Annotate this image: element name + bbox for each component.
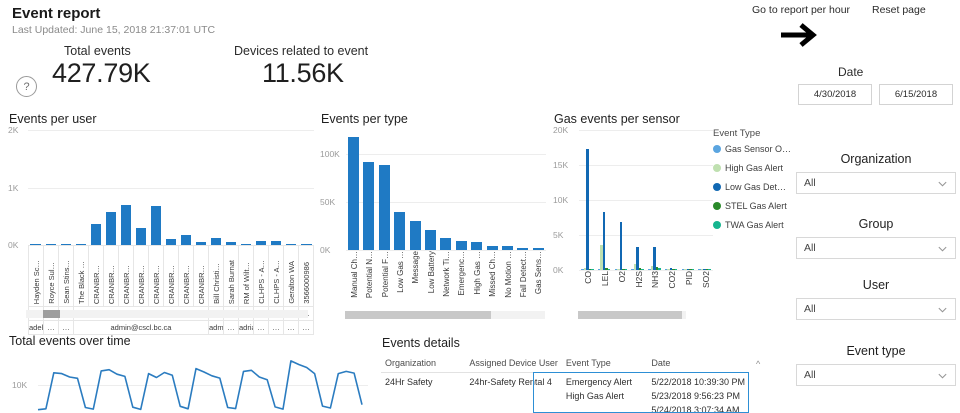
cell-date: 5/23/2018 9:56:23 PM: [647, 389, 749, 403]
scrollbar-events-per-user[interactable]: [26, 310, 308, 318]
legend-item[interactable]: Low Gas Det…: [713, 182, 786, 192]
slicer-user[interactable]: All: [796, 298, 956, 320]
last-updated-text: Last Updated: June 15, 2018 21:37:01 UTC: [12, 24, 215, 36]
column-header-assigned-device-user[interactable]: Assigned Device User: [465, 355, 562, 373]
slicer-value-user: All: [804, 303, 937, 315]
chart-title-gas-events: Gas events per sensor: [554, 112, 793, 126]
x-axis-group-account[interactable]: …: [254, 321, 269, 335]
events-per-type-axis: Manual Ch…Potential N…Potential F…Low Ga…: [320, 250, 546, 310]
x-axis-category[interactable]: NH3: [650, 271, 660, 288]
table-row[interactable]: 24Hr Safety24hr-Safety Rental 4Emergency…: [381, 373, 749, 390]
slicer-value-event-type: All: [804, 369, 937, 381]
kpi-label-devices: Devices related to event: [234, 44, 368, 58]
x-axis-category[interactable]: No Motion …: [504, 251, 513, 298]
page-title: Event report: [12, 5, 100, 22]
x-axis-category[interactable]: PID: [684, 271, 694, 285]
gridline: [579, 130, 713, 131]
chevron-down-icon: [937, 304, 948, 315]
bar[interactable]: [363, 162, 374, 250]
x-axis-category[interactable]: CLHPS - A…: [269, 246, 284, 307]
gridline: [346, 202, 546, 203]
cell-assigned-device-user: [465, 403, 562, 413]
reset-page-link[interactable]: Reset page: [872, 4, 926, 16]
date-to-input[interactable]: 6/15/2018: [879, 84, 953, 105]
details-table: Organization Assigned Device User Event …: [381, 355, 749, 413]
cell-assigned-device-user: 24hr-Safety Rental 4: [465, 373, 562, 390]
bar[interactable]: [121, 205, 131, 245]
kpi-value-total-events: 427.79K: [52, 58, 151, 89]
x-axis-category[interactable]: Fall Detect…: [519, 251, 528, 297]
gas-events-axis: COLELO2H2SNH3CO2PIDSO2: [553, 270, 713, 310]
date-from-input[interactable]: 4/30/2018: [798, 84, 872, 105]
x-axis-category[interactable]: CRANBR…: [134, 246, 149, 307]
cell-date: 5/24/2018 3:07:34 AM: [647, 403, 749, 413]
events-details-table: Events details Organization Assigned Dev…: [381, 336, 771, 413]
x-axis-category[interactable]: Sarah Burnat: [224, 246, 239, 307]
x-axis-group-account[interactable]: …: [299, 321, 314, 335]
y-axis-tick: 1K: [8, 183, 18, 193]
gridline: [346, 154, 546, 155]
x-axis-category[interactable]: Sean Stins…: [59, 246, 74, 307]
column-header-date[interactable]: Date: [647, 355, 749, 373]
legend-title: Event Type: [713, 128, 760, 139]
slicer-event-type[interactable]: All: [796, 364, 956, 386]
cell-event-type: Emergency Alert: [562, 373, 648, 390]
chart-title-events-per-type: Events per type: [321, 112, 546, 126]
kpi-label-total-events: Total events: [64, 44, 131, 58]
y-axis-tick: 5K: [553, 230, 563, 240]
x-axis-category[interactable]: 3566000986: [299, 246, 314, 307]
x-axis-group-account[interactable]: …: [44, 321, 59, 335]
arrow-right-icon[interactable]: [779, 22, 823, 53]
question-mark-icon[interactable]: ?: [16, 76, 37, 97]
cell-organization: [381, 389, 465, 403]
bar[interactable]: [181, 235, 191, 245]
cell-organization: 24Hr Safety: [381, 373, 465, 390]
legend-item[interactable]: TWA Gas Alert: [713, 220, 784, 230]
slicer-value-organization: All: [804, 177, 937, 189]
bar[interactable]: [211, 238, 221, 246]
scrollbar-thumb[interactable]: [578, 311, 682, 319]
legend-item[interactable]: High Gas Alert: [713, 163, 783, 173]
y-axis-tick: 15K: [553, 160, 568, 170]
legend-label: Gas Sensor O…: [725, 144, 791, 154]
slicer-value-group: All: [804, 242, 937, 254]
y-axis-tick: 50K: [320, 197, 335, 207]
table-header-row: Organization Assigned Device User Event …: [381, 355, 749, 373]
legend-color-swatch: [713, 164, 721, 172]
events-details-title: Events details: [382, 336, 771, 350]
y-axis-tick: 10K: [553, 195, 568, 205]
kpi-value-devices: 11.56K: [262, 58, 344, 89]
x-axis-category[interactable]: CRANBR…: [164, 246, 179, 307]
x-axis-category[interactable]: CRANBR…: [194, 246, 209, 307]
x-axis-category[interactable]: CRANBR…: [119, 246, 134, 307]
table-row[interactable]: High Gas Alert5/23/2018 9:56:23 PM: [381, 389, 749, 403]
x-axis-group-account[interactable]: adria…: [239, 321, 254, 335]
legend-label: TWA Gas Alert: [725, 220, 784, 230]
x-axis-category[interactable]: H2S: [634, 271, 644, 288]
bar[interactable]: [471, 242, 482, 250]
bar[interactable]: [379, 165, 390, 250]
x-axis-category[interactable]: CLHPS - A…: [254, 246, 269, 307]
x-axis-category[interactable]: High Gas …: [473, 251, 482, 295]
slicer-label-user: User: [796, 278, 956, 292]
column-header-organization[interactable]: Organization: [381, 355, 465, 373]
legend-item[interactable]: Gas Sensor O…: [713, 144, 791, 154]
legend-label: Low Gas Det…: [725, 182, 786, 192]
scrollbar-thumb[interactable]: [345, 311, 491, 319]
bar[interactable]: [410, 221, 421, 250]
bar[interactable]: [348, 137, 359, 250]
total-events-plot: 10K: [8, 352, 368, 413]
y-axis-tick: 100K: [320, 149, 340, 159]
x-axis-category[interactable]: Hayden Sc…: [29, 246, 44, 307]
x-axis-category[interactable]: RM of Wilt…: [239, 246, 254, 307]
table-row[interactable]: 5/24/2018 3:07:34 AM: [381, 403, 749, 413]
chart-title-events-per-user: Events per user: [9, 112, 314, 126]
bar[interactable]: [136, 228, 146, 245]
x-axis-category[interactable]: CRANBR…: [179, 246, 194, 307]
x-axis-group-account[interactable]: …: [224, 321, 239, 335]
x-axis-group-account[interactable]: admin@cscl.bc.ca: [74, 321, 209, 335]
cell-event-type: [562, 403, 648, 413]
x-axis-group-account[interactable]: …: [269, 321, 284, 335]
gas-events-legend: Event TypeGas Sensor O…High Gas AlertLow…: [713, 128, 793, 238]
bar[interactable]: [425, 230, 436, 250]
gridline: [579, 200, 713, 201]
bar[interactable]: [636, 247, 639, 270]
slicer-organization[interactable]: All: [796, 172, 956, 194]
gridline: [28, 130, 314, 131]
chevron-down-icon: [937, 178, 948, 189]
events-per-type-plot: 0K50K100K: [320, 130, 546, 250]
x-axis-category[interactable]: Low Battery: [427, 251, 436, 293]
slicer-label-event-type: Event type: [796, 344, 956, 358]
x-axis-group-account[interactable]: adel…: [29, 321, 44, 335]
x-axis-category[interactable]: O2: [617, 271, 627, 282]
legend-color-swatch: [713, 145, 721, 153]
bar[interactable]: [106, 212, 116, 245]
x-axis-category[interactable]: Bill Christi…: [209, 246, 224, 307]
bar[interactable]: [151, 206, 161, 245]
x-axis-category[interactable]: CRANBR…: [149, 246, 164, 307]
slicer-label-organization: Organization: [796, 152, 956, 166]
scrollbar-gas-events[interactable]: [578, 311, 686, 319]
x-axis-category[interactable]: Manual Ch…: [350, 251, 359, 298]
x-axis-category[interactable]: Message: [411, 251, 420, 283]
chart-title-total-events-over-time: Total events over time: [9, 334, 368, 348]
legend-label: High Gas Alert: [725, 163, 783, 173]
legend-label: STEL Gas Alert: [725, 201, 787, 211]
cell-assigned-device-user: [465, 389, 562, 403]
cell-event-type: High Gas Alert: [562, 389, 648, 403]
x-axis-category[interactable]: Low Gas …: [396, 251, 405, 293]
x-axis-category[interactable]: CO2: [667, 271, 677, 288]
chart-gas-events-per-sensor: Gas events per sensor 0K5K10K15K20K COLE…: [553, 112, 793, 312]
legend-color-swatch: [713, 183, 721, 191]
event-report-dashboard: Event report Last Updated: June 15, 2018…: [0, 0, 960, 413]
date-filter-label: Date: [838, 65, 863, 79]
chevron-down-icon: [937, 370, 948, 381]
gridline: [579, 235, 713, 236]
x-axis-category[interactable]: LEL: [600, 271, 610, 286]
scrollbar-events-per-type[interactable]: [345, 311, 545, 319]
x-axis-group-account[interactable]: admi…: [209, 321, 224, 335]
x-axis-group-account[interactable]: …: [59, 321, 74, 335]
y-axis-tick: 20K: [553, 125, 568, 135]
cell-organization: [381, 403, 465, 413]
x-axis-category[interactable]: Emergenc…: [457, 251, 466, 295]
legend-color-swatch: [713, 221, 721, 229]
x-axis-category[interactable]: Geralton WA: [284, 246, 299, 307]
bar[interactable]: [586, 149, 589, 270]
scrollbar-thumb[interactable]: [43, 310, 60, 318]
gridline: [579, 165, 713, 166]
cell-date: 5/22/2018 10:39:30 PM: [647, 373, 749, 390]
legend-color-swatch: [713, 202, 721, 210]
go-to-report-per-hour-link[interactable]: Go to report per hour: [752, 4, 850, 16]
column-header-event-type[interactable]: Event Type: [562, 355, 648, 373]
x-axis-category[interactable]: CRANBR…: [104, 246, 119, 307]
legend-item[interactable]: STEL Gas Alert: [713, 201, 787, 211]
bar[interactable]: [603, 212, 606, 270]
events-per-user-plot: 0K1K2K: [8, 130, 314, 245]
line-series: [8, 352, 368, 413]
chart-events-per-type: Events per type 0K50K100K Manual Ch…Pote…: [320, 112, 546, 312]
x-axis-category[interactable]: CRANBR…: [89, 246, 104, 307]
x-axis-category[interactable]: Network Ti…: [442, 251, 451, 297]
chart-total-events-over-time: Total events over time 10K: [8, 334, 368, 413]
x-axis-category[interactable]: SO2: [701, 271, 711, 288]
x-axis-category[interactable]: Gas Sens…: [534, 251, 543, 294]
x-axis-category[interactable]: The Black …: [74, 246, 89, 307]
slicer-label-group: Group: [796, 217, 956, 231]
chart-events-per-user: Events per user 0K1K2K Hayden Sc…Royce S…: [8, 112, 314, 312]
bar[interactable]: [620, 222, 623, 270]
x-axis-category[interactable]: Potential F…: [381, 251, 390, 297]
x-axis-category[interactable]: Missed Ch…: [488, 251, 497, 297]
y-axis-tick: 2K: [8, 125, 18, 135]
gas-events-plot: 0K5K10K15K20K: [553, 130, 713, 270]
bar[interactable]: [440, 238, 451, 251]
bar[interactable]: [456, 241, 467, 250]
chevron-up-icon[interactable]: ^: [756, 359, 760, 369]
chevron-down-icon: [937, 243, 948, 254]
bar[interactable]: [394, 212, 405, 250]
bar[interactable]: [91, 224, 101, 245]
x-axis-group-account[interactable]: …: [284, 321, 299, 335]
gridline: [28, 188, 314, 189]
x-axis-category[interactable]: Potential N…: [365, 251, 374, 298]
x-axis-category[interactable]: CO: [583, 271, 593, 284]
x-axis-category[interactable]: Royce Sul…: [44, 246, 59, 307]
events-per-user-axis: Hayden Sc…Royce Sul…Sean Stins…The Black…: [8, 245, 314, 307]
slicer-group[interactable]: All: [796, 237, 956, 259]
